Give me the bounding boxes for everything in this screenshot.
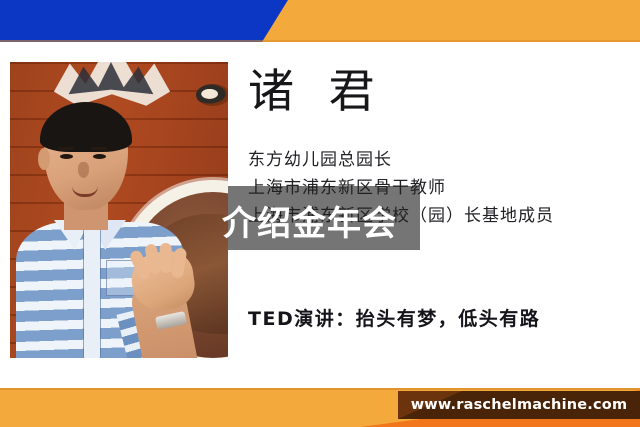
speaker-title-line-1: 东方幼儿园总园长 <box>248 146 554 174</box>
talk-title: TED演讲：抬头有梦，低头有路 <box>248 304 540 331</box>
top-banner-underline <box>0 40 640 42</box>
slide-canvas: 诸 君 东方幼儿园总园长 上海市浦东新区骨干教师 上海市浦东新区学校（园）长基地… <box>0 0 640 427</box>
ear <box>38 148 50 170</box>
speaker-photo <box>10 62 228 358</box>
website-url-badge[interactable]: www.raschelmachine.com <box>398 391 640 419</box>
top-banner <box>0 0 640 42</box>
finger <box>159 243 172 273</box>
watermark-text: 介绍金年会 <box>222 196 432 245</box>
speaker-name: 诸 君 <box>248 68 385 114</box>
website-url-text: www.raschelmachine.com <box>411 397 628 413</box>
nose <box>78 162 89 178</box>
bottom-banner-topline <box>0 388 640 390</box>
top-banner-orange-wedge <box>0 0 640 42</box>
eyebrow-left <box>58 147 74 150</box>
eyebrow-right <box>91 147 107 150</box>
eye-right <box>93 154 106 159</box>
eye-left <box>60 154 73 159</box>
wall-knot-detail <box>196 84 228 106</box>
shirt-placket <box>84 226 100 358</box>
